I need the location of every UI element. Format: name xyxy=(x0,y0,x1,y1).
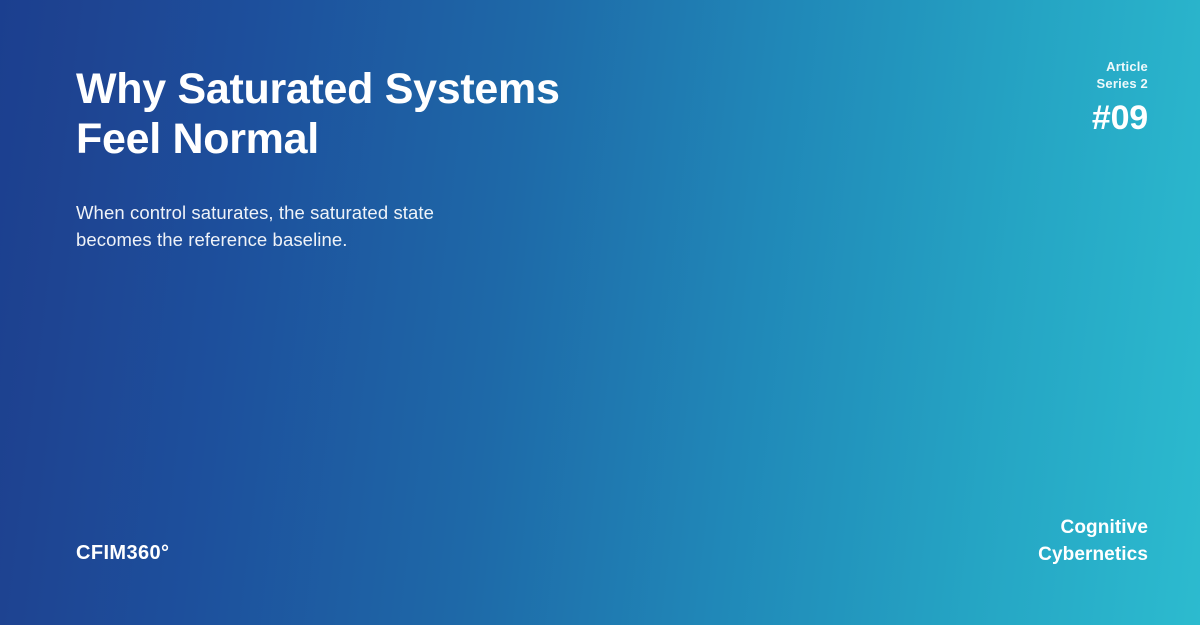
subtitle-text: When control saturates, the saturated st… xyxy=(76,199,596,253)
page-title: Why Saturated Systems Feel Normal xyxy=(76,64,716,164)
imprint-label: Cognitive Cybernetics xyxy=(1038,514,1148,568)
slide-canvas: Why Saturated Systems Feel Normal When c… xyxy=(0,0,1200,625)
brand-name: CFIM360 xyxy=(76,542,161,564)
series-label: Article Series 2 xyxy=(1092,58,1148,92)
degree-icon: ° xyxy=(161,542,169,564)
title-block: Why Saturated Systems Feel Normal xyxy=(76,64,716,164)
series-badge: Article Series 2 #09 xyxy=(1092,58,1148,137)
brand-logo: CFIM360° xyxy=(76,541,169,565)
article-number: #09 xyxy=(1092,99,1148,137)
